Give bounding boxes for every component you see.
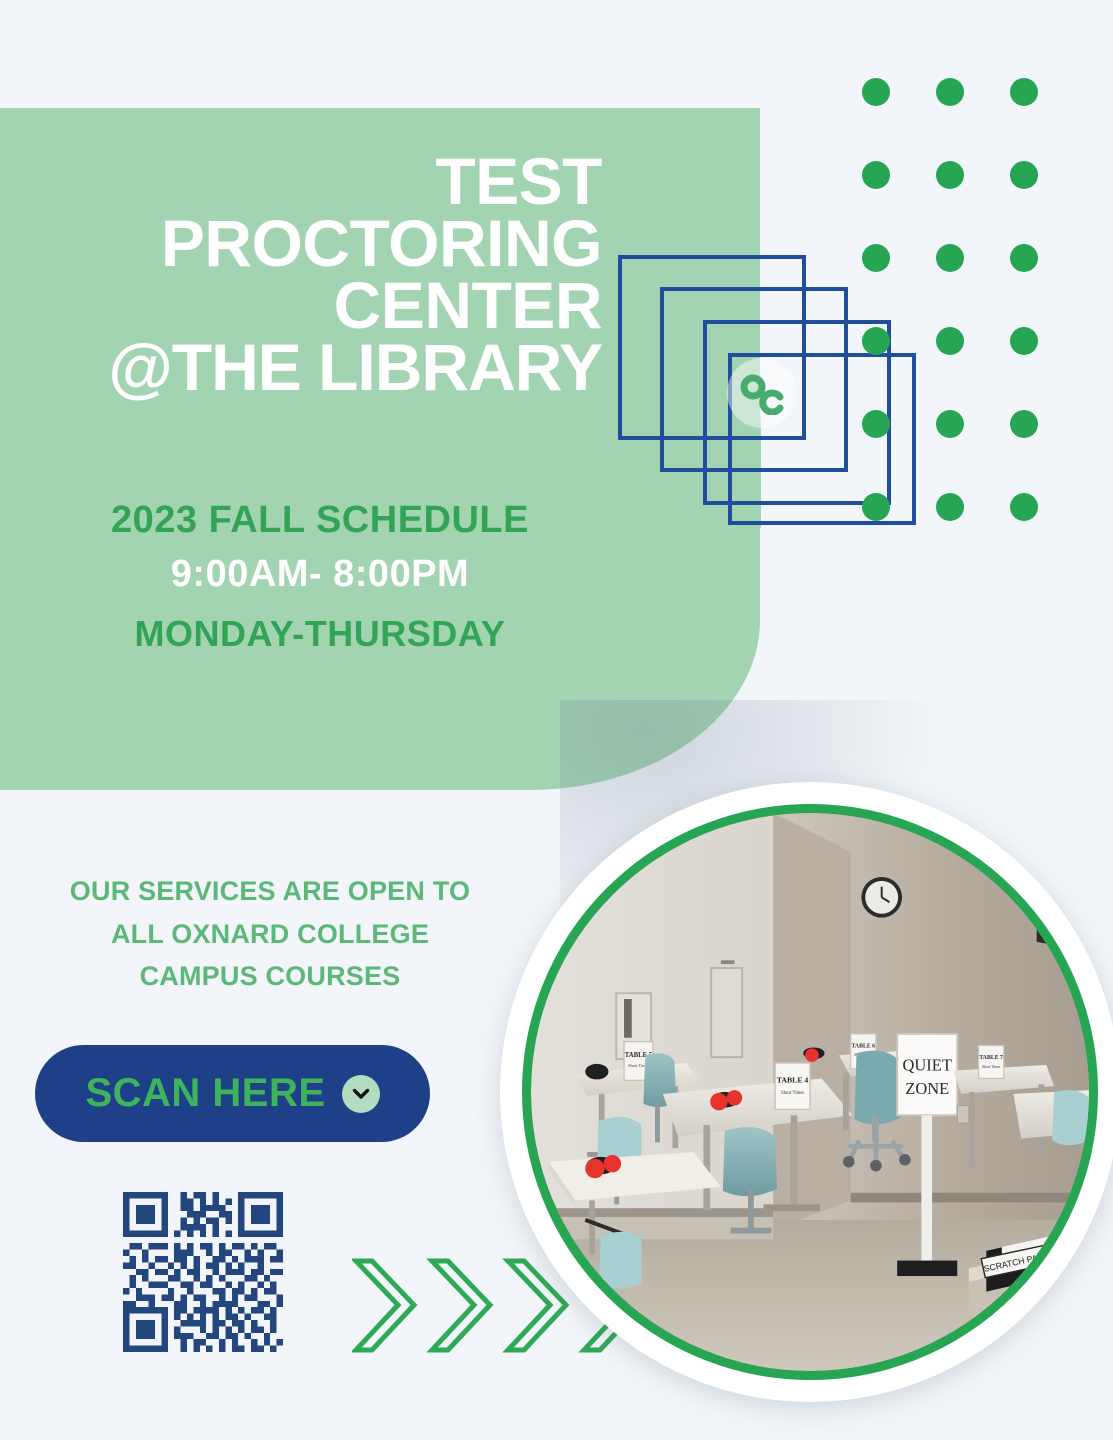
services-line-3: CAMPUS COURSES	[20, 955, 520, 998]
dot-decor	[936, 78, 964, 106]
svg-text:Short Timer: Short Timer	[982, 1065, 1001, 1069]
svg-text:TABLE 7: TABLE 7	[979, 1055, 1003, 1061]
title-line-1: TEST	[0, 150, 602, 212]
chevron-right-icon	[432, 1261, 490, 1350]
dot-decor	[1010, 244, 1038, 272]
schedule-term: 2023 FALL SCHEDULE	[0, 495, 640, 546]
oxnard-college-logo-icon	[727, 358, 797, 428]
scan-here-button[interactable]: SCAN HERE	[35, 1045, 430, 1142]
title-line-3: CENTER	[0, 274, 602, 336]
dot-decor	[1010, 78, 1038, 106]
svg-text:TABLE 6: TABLE 6	[851, 1043, 875, 1049]
schedule-block: 2023 FALL SCHEDULE 9:00AM- 8:00PM MONDAY…	[0, 495, 640, 664]
services-line-2: ALL OXNARD COLLEGE	[20, 913, 520, 956]
chevron-down-icon	[342, 1075, 380, 1113]
schedule-days: MONDAY-THURSDAY	[0, 603, 640, 664]
dot-decor	[862, 327, 890, 355]
dot-decor	[936, 161, 964, 189]
svg-text:QUIET: QUIET	[903, 1056, 952, 1075]
svg-text:Short Timer: Short Timer	[781, 1091, 805, 1096]
services-statement: OUR SERVICES ARE OPEN TO ALL OXNARD COLL…	[20, 870, 520, 998]
qr-code[interactable]	[103, 1192, 303, 1352]
dot-decor	[1010, 327, 1038, 355]
chevron-right-icon	[508, 1261, 566, 1350]
proctoring-room-photo: TABLE 5 Short Timer	[522, 804, 1098, 1380]
title-line-4: @THE LIBRARY	[0, 336, 602, 398]
title-line-2: PROCTORING	[0, 212, 602, 274]
dot-decor	[936, 493, 964, 521]
photo-inner: TABLE 5 Short Timer	[531, 813, 1089, 1371]
dot-decor	[862, 410, 890, 438]
chevron-right-icon	[356, 1261, 414, 1350]
dot-decor	[862, 161, 890, 189]
services-line-1: OUR SERVICES ARE OPEN TO	[20, 870, 520, 913]
schedule-hours: 9:00AM- 8:00PM	[0, 546, 640, 603]
page-title: TEST PROCTORING CENTER @THE LIBRARY	[0, 150, 620, 398]
dot-decor	[862, 493, 890, 521]
photo-ring: TABLE 5 Short Timer	[500, 782, 1113, 1402]
dot-decor	[862, 78, 890, 106]
dot-decor	[936, 244, 964, 272]
dot-decor	[1010, 410, 1038, 438]
scan-here-label: SCAN HERE	[85, 1071, 325, 1116]
dot-decor	[1010, 493, 1038, 521]
poster-root: TEST PROCTORING CENTER @THE LIBRARY 2023…	[0, 0, 1113, 1440]
svg-text:TABLE 4: TABLE 4	[777, 1075, 809, 1084]
svg-text:ZONE: ZONE	[905, 1079, 949, 1098]
dot-decor	[936, 410, 964, 438]
dot-grid-decor	[862, 78, 1084, 576]
dot-decor	[936, 327, 964, 355]
dot-decor	[1010, 161, 1038, 189]
dot-decor	[862, 244, 890, 272]
